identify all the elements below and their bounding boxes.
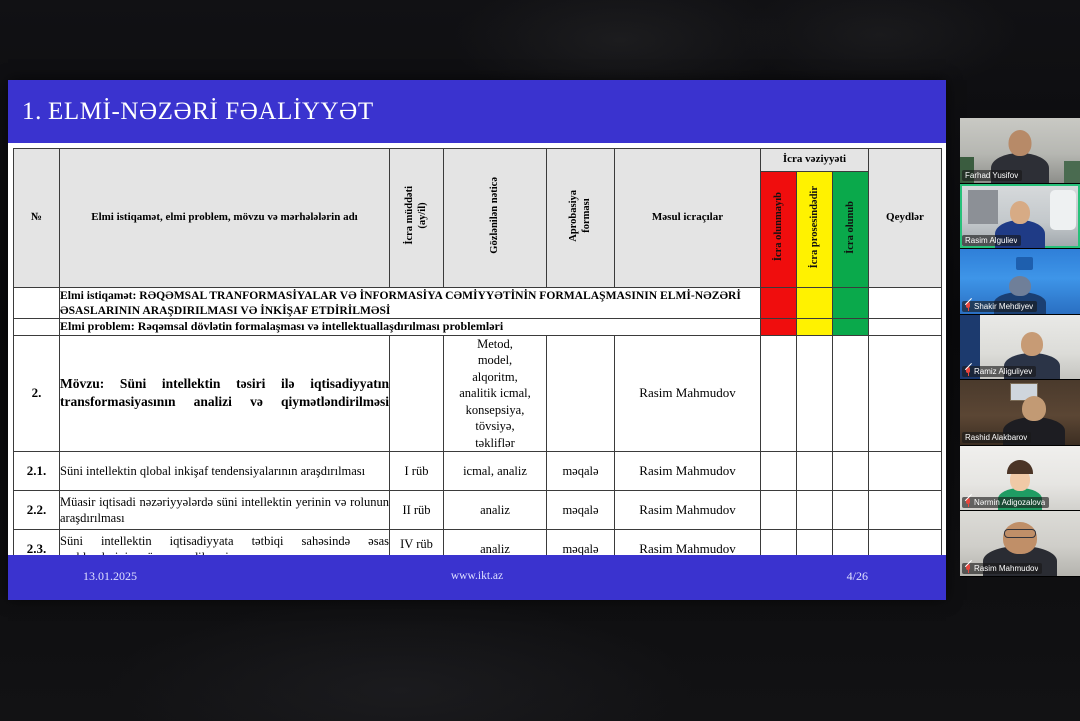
row-name: Süni intellektin qlobal inkişaf tendensi… — [60, 452, 390, 491]
participant-name-badge: Rasim Alguliev — [962, 235, 1021, 246]
row-status-yellow — [797, 335, 833, 452]
row-status-yellow — [797, 491, 833, 530]
decor — [968, 190, 998, 224]
table-row: 2. Mövzu: Süni intellektin təsiri ilə iq… — [14, 335, 942, 452]
decor — [1016, 257, 1033, 270]
row-status-green — [833, 452, 869, 491]
band-row-problem-no — [14, 319, 60, 336]
mic-muted-icon — [965, 302, 971, 311]
row-name: Mövzu: Süni intellektin təsiri ilə iqtis… — [60, 335, 390, 452]
header-status-done: İcra olunub — [833, 172, 869, 288]
row-approbation: məqalə — [547, 452, 615, 491]
row-no: 2. — [14, 335, 60, 452]
video-tile-participant[interactable]: Farhad Yusifov — [960, 118, 1080, 184]
participant-name: Nərmin Adigozalova — [974, 498, 1045, 507]
footer-date: 13.01.2025 — [83, 569, 137, 584]
participant-name: Rashid Alakbarov — [965, 433, 1027, 442]
row-result: analiz — [444, 491, 547, 530]
row-status-yellow — [797, 452, 833, 491]
video-tile-participant[interactable]: Rashid Alakbarov — [960, 380, 1080, 446]
footer-page-number: 4/26 — [847, 569, 868, 584]
row-notes — [869, 491, 942, 530]
video-tile-participant[interactable]: Rasim Mahmudov — [960, 511, 1080, 577]
participant-name-badge: Rashid Alakbarov — [962, 432, 1031, 443]
avatar — [1022, 396, 1046, 421]
presentation-slide: 1. ELMİ-NƏZƏRİ FƏALİYYƏT № Elmi istiqamə… — [8, 80, 946, 600]
row-term: I rüb — [390, 452, 444, 491]
row-result: Metod,model,alqoritm,analitik icmal,kons… — [444, 335, 547, 452]
header-term-label: İcra müddəti(ay/il) — [403, 186, 429, 245]
band-row-problem-text: Elmi problem: Rəqəmsal dövlətin formalaş… — [60, 319, 761, 336]
participant-name: Farhad Yusifov — [965, 171, 1018, 180]
participant-name-badge: Rasim Mahmudov — [962, 563, 1042, 574]
band-row-direction-status-green — [833, 288, 869, 319]
row-result: icmal, analiz — [444, 452, 547, 491]
video-tile-participant[interactable]: Shakir Mehdiyev — [960, 249, 1080, 315]
participant-name-badge: Nərmin Adigozalova — [962, 497, 1049, 508]
row-notes — [869, 452, 942, 491]
participant-name: Ramiz Aliguliyev — [974, 367, 1032, 376]
decor — [1050, 190, 1076, 230]
mic-muted-icon — [965, 564, 971, 573]
header-status-done-label: İcra olunub — [845, 201, 856, 254]
band-row-direction-no — [14, 288, 60, 319]
table-row: 2.2. Müasir iqtisadi nəzəriyyələrdə süni… — [14, 491, 942, 530]
glasses-icon — [1004, 529, 1036, 538]
participant-name: Shakir Mehdiyev — [974, 302, 1033, 311]
decor — [1064, 161, 1080, 183]
row-term: II rüb — [390, 491, 444, 530]
row-responsible: Rasim Mahmudov — [615, 491, 761, 530]
participant-name-badge: Shakir Mehdiyev — [962, 301, 1037, 312]
slide-title-number: 1. — [22, 98, 42, 126]
row-status-red — [761, 452, 797, 491]
mic-muted-icon — [965, 367, 971, 376]
header-approbation-label: Aprobasiyaforması — [567, 190, 593, 242]
row-status-red — [761, 335, 797, 452]
row-status-red — [761, 491, 797, 530]
header-responsible: Məsul icraçılar — [615, 149, 761, 288]
mic-muted-icon — [965, 498, 971, 507]
avatar — [1003, 522, 1037, 554]
video-tile-participant[interactable]: Nərmin Adigozalova — [960, 446, 1080, 512]
header-term: İcra müddəti(ay/il) — [390, 149, 444, 288]
avatar — [1021, 332, 1043, 356]
header-no: № — [14, 149, 60, 288]
header-result: Gözlənilən nəticə — [444, 149, 547, 288]
header-status-in-progress-label: İcra prosesindədir — [809, 186, 820, 268]
row-term — [390, 335, 444, 452]
header-approbation: Aprobasiyaforması — [547, 149, 615, 288]
band-row-direction-status-yellow — [797, 288, 833, 319]
table-row: 2.1. Süni intellektin qlobal inkişaf ten… — [14, 452, 942, 491]
slide-title-bar: 1. ELMİ-NƏZƏRİ FƏALİYYƏT — [8, 80, 946, 143]
header-status-not-done-label: İcra olunmayıb — [773, 192, 784, 261]
header-name: Elmi istiqamət, elmi problem, mövzu və m… — [60, 149, 390, 288]
slide-footer: 13.01.2025 www.ikt.az 4/26 — [8, 555, 946, 600]
avatar — [1007, 460, 1033, 474]
header-status-in-progress: İcra prosesindədir — [797, 172, 833, 288]
band-row-direction-notes — [869, 288, 942, 319]
header-notes: Qeydlər — [869, 149, 942, 288]
participant-name: Rasim Mahmudov — [974, 564, 1038, 573]
header-status-not-done: İcra olunmayıb — [761, 172, 797, 288]
participant-name: Rasim Alguliev — [965, 236, 1017, 245]
band-row-direction-status-red — [761, 288, 797, 319]
row-name: Müasir iqtisadi nəzəriyyələrdə süni inte… — [60, 491, 390, 530]
row-no: 2.1. — [14, 452, 60, 491]
table-band-row-problem: Elmi problem: Rəqəmsal dövlətin formalaş… — [14, 319, 942, 336]
video-tile-participant[interactable]: Ramiz Aliguliyev — [960, 315, 1080, 381]
video-tile-participant[interactable]: Rasim Alguliev — [960, 184, 1080, 250]
footer-website: www.ikt.az — [451, 570, 503, 582]
row-notes — [869, 335, 942, 452]
row-status-green — [833, 491, 869, 530]
band-row-direction-text: Elmi istiqamət: RƏQƏMSAL TRANFORMASİYALA… — [60, 288, 761, 319]
band-row-problem-notes — [869, 319, 942, 336]
header-result-label: Gözlənilən nəticə — [488, 177, 501, 254]
table-header-row-1: № Elmi istiqamət, elmi problem, mövzu və… — [14, 149, 942, 172]
avatar — [1009, 130, 1032, 156]
table-band-row-direction: Elmi istiqamət: RƏQƏMSAL TRANFORMASİYALA… — [14, 288, 942, 319]
participant-name-badge: Ramiz Aliguliyev — [962, 366, 1036, 377]
work-plan-table: № Elmi istiqamət, elmi problem, mövzu və… — [13, 148, 942, 569]
slide-title-text: ELMİ-NƏZƏRİ FƏALİYYƏT — [48, 98, 374, 126]
row-approbation: məqalə — [547, 491, 615, 530]
band-row-problem-status-green — [833, 319, 869, 336]
avatar — [1009, 276, 1031, 296]
row-responsible: Rasim Mahmudov — [615, 335, 761, 452]
screen: 1. ELMİ-NƏZƏRİ FƏALİYYƏT № Elmi istiqamə… — [0, 0, 1080, 721]
band-row-problem-status-yellow — [797, 319, 833, 336]
header-status-group: İcra vəziyyəti — [761, 149, 869, 172]
participant-name-badge: Farhad Yusifov — [962, 170, 1022, 181]
avatar — [1010, 201, 1030, 224]
table-container: № Elmi istiqamət, elmi problem, mövzu və… — [8, 143, 946, 569]
row-status-green — [833, 335, 869, 452]
participant-video-strip[interactable]: Farhad Yusifov Rasim Alguliev Shakir Meh… — [960, 118, 1080, 570]
row-no: 2.2. — [14, 491, 60, 530]
row-responsible: Rasim Mahmudov — [615, 452, 761, 491]
band-row-problem-status-red — [761, 319, 797, 336]
row-approbation — [547, 335, 615, 452]
